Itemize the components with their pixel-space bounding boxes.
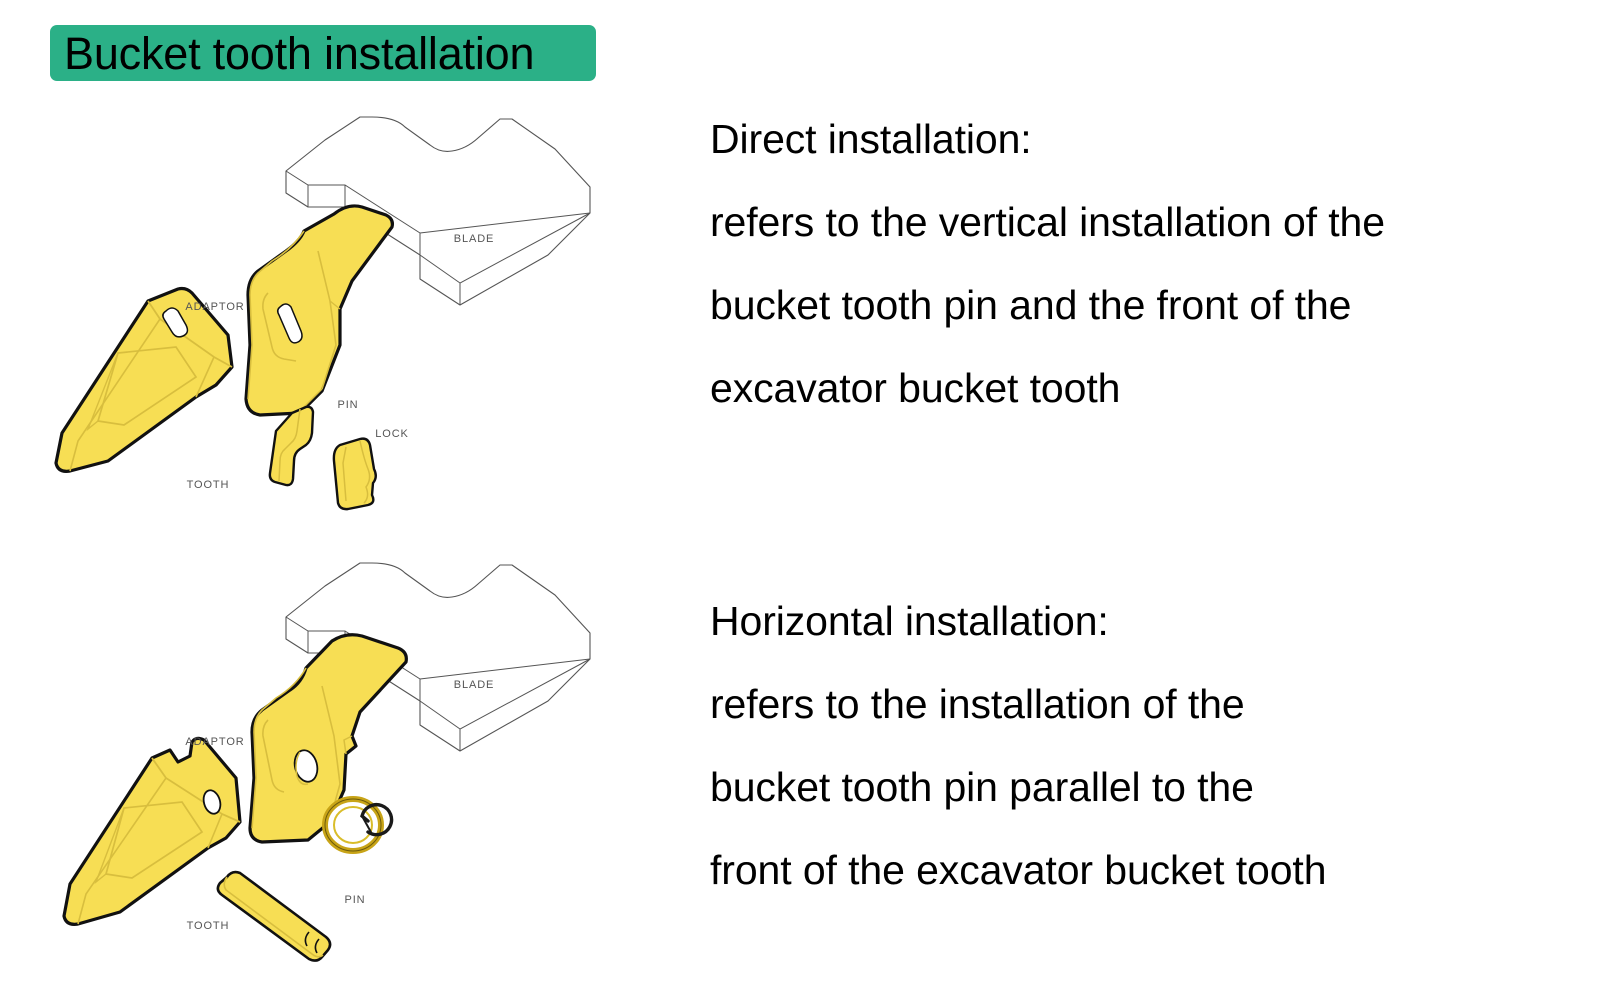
label-adaptor: ADAPTOR (185, 736, 244, 748)
page-title-banner: Bucket tooth installation (50, 25, 596, 81)
lock-part (334, 439, 376, 510)
slide-root: Bucket tooth installation (0, 0, 1600, 1000)
label-tooth: TOOTH (187, 479, 230, 491)
horizontal-heading: Horizontal installation: (710, 580, 1570, 663)
horizontal-installation-text: Horizontal installation: refers to the i… (710, 580, 1570, 912)
direct-body-line-2: bucket tooth pin and the front of the (710, 264, 1570, 347)
label-adaptor: ADAPTOR (185, 301, 244, 313)
pin-part (270, 407, 313, 485)
direct-installation-diagram: BLADE ADAPTOR TOOTH PIN LOCK (0, 95, 680, 525)
label-lock: LOCK (375, 428, 409, 440)
label-blade: BLADE (454, 679, 495, 691)
page-title: Bucket tooth installation (64, 31, 534, 76)
horizontal-body-line-3: front of the excavator bucket tooth (710, 829, 1570, 912)
tooth-part (64, 738, 240, 924)
direct-body-line-3: excavator bucket tooth (710, 347, 1570, 430)
direct-heading: Direct installation: (710, 98, 1570, 181)
horizontal-installation-diagram: BLADE ADAPTOR TOOTH PIN (0, 540, 680, 970)
direct-body-line-1: refers to the vertical installation of t… (710, 181, 1570, 264)
label-pin: PIN (344, 894, 365, 906)
pin-part (218, 872, 330, 961)
horizontal-body-line-2: bucket tooth pin parallel to the (710, 746, 1570, 829)
adaptor-part (246, 206, 392, 415)
label-blade: BLADE (454, 233, 495, 245)
direct-installation-text: Direct installation: refers to the verti… (710, 98, 1570, 430)
label-tooth: TOOTH (187, 920, 230, 932)
retaining-ring-part (325, 799, 392, 851)
label-pin: PIN (337, 399, 358, 411)
horizontal-body-line-1: refers to the installation of the (710, 663, 1570, 746)
tooth-part (56, 289, 232, 472)
